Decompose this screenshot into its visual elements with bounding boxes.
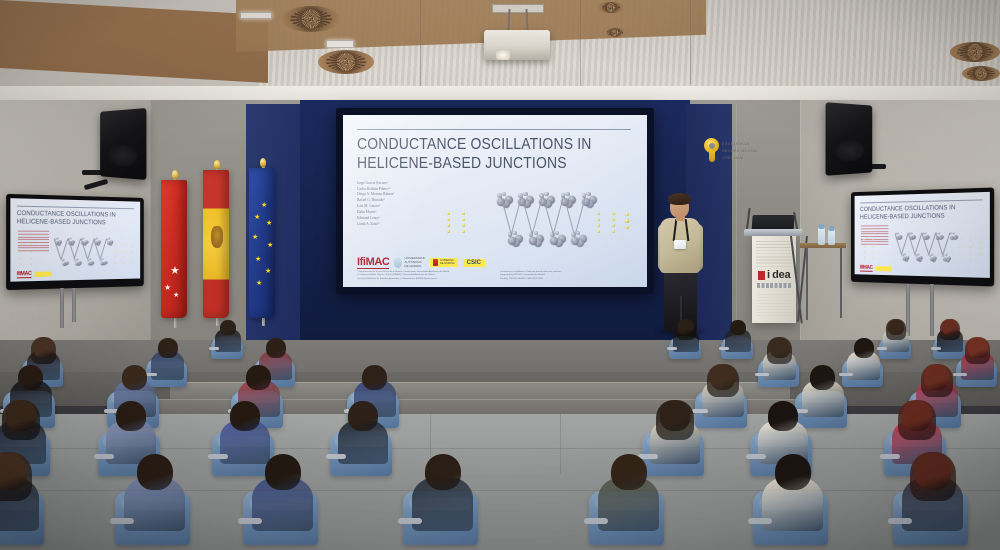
uam-mark-icon xyxy=(394,257,402,268)
audience-member-head xyxy=(710,365,735,390)
carbon-ring-atom xyxy=(56,238,58,240)
audience-member-head xyxy=(362,365,387,390)
slide-fineprint: ¹ Departamento de Física Teórica de la M… xyxy=(357,271,635,281)
audience-member-head xyxy=(770,338,790,358)
gold-atom xyxy=(131,258,132,259)
gold-electrode-atom-column xyxy=(968,238,971,261)
chair-armrest xyxy=(94,454,114,459)
lectern-banner-text-lines xyxy=(756,241,792,267)
gold-atom xyxy=(123,244,124,245)
pa-speaker-right xyxy=(826,102,873,176)
gold-electrode-atom-column xyxy=(978,240,981,256)
monitor-right-molecule xyxy=(860,223,985,267)
carbon-ring-atom xyxy=(544,192,549,197)
slide-logo-row: IfiMAC UNIVERSIDAD AUTÓNOMA DE MADRID GO… xyxy=(357,257,635,270)
audience-member-head xyxy=(158,338,178,358)
audience-member-head xyxy=(942,320,958,336)
carbon-ring-atom xyxy=(897,232,899,234)
gold-atom xyxy=(612,212,615,215)
chair-armrest xyxy=(238,518,262,524)
audience-member-head xyxy=(6,401,36,431)
gold-electrode-atom-column xyxy=(462,212,465,234)
ceiling-vent xyxy=(962,66,1000,81)
ceiling-panel-seam xyxy=(690,0,691,84)
flag-eu: ★ ★ ★ ★ ★ ★ ★ ★ xyxy=(249,168,275,318)
molecular-bond xyxy=(74,239,82,260)
gold-atom xyxy=(447,218,450,221)
flag-madrid: ★ ★ ★ xyxy=(161,180,187,318)
gold-atom xyxy=(131,252,132,253)
fineprint-affiliations: ¹ Departamento de Física Teórica de la M… xyxy=(357,271,492,281)
eu-star-icon: ★ xyxy=(267,242,273,249)
gold-atom xyxy=(612,230,615,233)
monitor-right-ifimac-logo: IfiMAC xyxy=(860,265,873,272)
carbon-ring-atom xyxy=(102,258,104,260)
gold-atom xyxy=(462,218,465,221)
monitor-left[interactable]: CONDUCTANCE OSCILLATIONS IN HELICENE-BAS… xyxy=(6,194,144,290)
carbon-ring-atom xyxy=(924,232,926,234)
gold-atom xyxy=(20,251,21,252)
fineprint-funding: Conductance oscillations in helicene-bas… xyxy=(500,271,635,281)
chair-armrest xyxy=(839,373,852,376)
monitor-left-screen: CONDUCTANCE OSCILLATIONS IN HELICENE-BAS… xyxy=(10,198,140,282)
carbon-ring-atom xyxy=(550,237,558,245)
gold-atom xyxy=(114,256,115,257)
audience-member-head xyxy=(768,401,798,431)
carbon-ring-atom xyxy=(512,231,517,236)
carbon-ring-atom xyxy=(83,238,85,240)
chair-armrest xyxy=(755,373,768,376)
carbon-ring-atom xyxy=(902,257,905,261)
lectern-banner-footer-lines xyxy=(757,294,791,316)
seal-ribbon-icon xyxy=(709,151,715,162)
gold-atom xyxy=(863,245,864,246)
lectern-top xyxy=(744,229,803,236)
chair-armrest xyxy=(667,347,677,350)
carbon-ring-atom xyxy=(945,254,947,256)
carbon-ring-atom xyxy=(96,238,98,240)
chair-armrest xyxy=(877,347,887,350)
carbon-ring-atom xyxy=(89,258,91,260)
carbon-ring-atom xyxy=(508,237,516,245)
lectern-banner: i dea xyxy=(752,236,796,323)
carbon-ring-atom xyxy=(565,192,570,197)
slide-title: CONDUCTANCE OSCILLATIONS IN HELICENE-BAS… xyxy=(357,136,607,174)
side-table-leg xyxy=(840,248,842,318)
monitor-left-neck xyxy=(60,288,64,328)
audience-member-head xyxy=(810,365,835,390)
madrid-star-icon: ★ xyxy=(164,284,171,292)
gold-atom xyxy=(597,230,600,233)
gold-atom xyxy=(30,244,31,245)
ceiling-projector xyxy=(484,30,550,60)
monitor-right-funder-logo xyxy=(875,266,891,271)
projector-mount xyxy=(507,9,528,33)
gold-atom xyxy=(30,263,31,264)
wall-seal-text: EXCELENCIA SEVERO OCHOA CSIC-UAM xyxy=(722,140,776,161)
gobierno-logo-text: GOBIERNO DE ESPAÑA xyxy=(440,260,455,266)
ceiling-vent xyxy=(282,6,340,32)
gold-electrode-atom-column xyxy=(122,243,125,264)
gold-atom xyxy=(979,248,981,250)
projector-lens xyxy=(496,50,510,60)
monitor-right-neck xyxy=(930,284,934,336)
slide-divider xyxy=(357,129,631,130)
gold-atom xyxy=(959,246,960,247)
gold-atom xyxy=(969,259,971,261)
gold-atom xyxy=(20,257,21,258)
ceiling-wood-panel-left xyxy=(0,0,268,83)
monitor-left-neck xyxy=(72,288,76,322)
eu-star-icon: ★ xyxy=(254,214,260,221)
eu-star-icon: ★ xyxy=(255,256,261,263)
gold-atom xyxy=(625,213,628,216)
ceiling-panel-seam xyxy=(420,0,421,88)
pa-speaker-left xyxy=(100,108,146,180)
wall-seam xyxy=(150,100,151,350)
gold-atom xyxy=(462,224,465,227)
gold-electrode-atom-column xyxy=(958,238,961,260)
chair-armrest xyxy=(398,518,422,524)
audience-member-head xyxy=(116,401,146,431)
carbon-ring-atom xyxy=(938,232,940,234)
gold-electrode-atom-column xyxy=(130,245,133,260)
gold-atom xyxy=(979,241,981,243)
imdea-square-icon xyxy=(758,271,765,280)
monitor-right-screen: CONDUCTANCE OSCILLATIONS IN HELICENE-BAS… xyxy=(855,192,990,278)
chair-armrest xyxy=(719,347,729,350)
speaker-hair xyxy=(668,193,691,205)
gold-atom xyxy=(597,224,600,227)
water-bottle[interactable] xyxy=(828,230,835,245)
chair-armrest xyxy=(953,373,966,376)
gold-atom xyxy=(959,258,960,259)
gold-atom xyxy=(863,251,864,252)
gold-atom xyxy=(114,262,115,263)
gold-atom xyxy=(597,218,600,221)
gold-atom xyxy=(462,212,465,215)
carbon-ring-atom xyxy=(534,231,539,236)
eu-star-icon: ★ xyxy=(252,234,258,241)
gold-atom xyxy=(969,252,971,254)
audience-member-head xyxy=(854,338,874,358)
carbon-ring-atom xyxy=(63,259,65,261)
gold-atom xyxy=(123,250,124,251)
water-bottle[interactable] xyxy=(818,228,825,245)
audience-member-head xyxy=(266,338,286,358)
gold-atom xyxy=(969,239,971,240)
speaker-badge xyxy=(674,240,686,249)
ceiling-vent xyxy=(950,42,1000,62)
side-table-leg xyxy=(806,248,808,320)
eu-star-icon: ★ xyxy=(266,220,272,227)
monitor-left-ifimac-logo: IfiMAC xyxy=(17,271,32,279)
gold-atom xyxy=(597,212,600,215)
carbon-ring-atom xyxy=(70,238,72,240)
audience-member-head xyxy=(968,338,988,358)
ifimac-logo: IfiMAC xyxy=(357,257,389,270)
audience-member-head xyxy=(915,454,952,491)
gold-atom xyxy=(123,262,124,263)
gold-atom xyxy=(30,251,31,252)
gold-atom xyxy=(114,250,115,251)
madrid-star-icon: ★ xyxy=(170,266,180,277)
audience-member-head xyxy=(34,338,54,358)
chair-armrest xyxy=(692,409,709,413)
slide: CONDUCTANCE OSCILLATIONS IN HELICENE-BAS… xyxy=(343,115,647,287)
monitor-left-funder-logo xyxy=(35,272,52,277)
eu-star-icon: ★ xyxy=(256,280,262,287)
audience-member-head xyxy=(122,365,147,390)
gold-atom xyxy=(447,224,450,227)
carbon-ring-atom xyxy=(75,262,78,265)
audience-member-head xyxy=(425,454,462,491)
monitor-right-title: CONDUCTANCE OSCILLATIONS IN HELICENE-BAS… xyxy=(860,203,974,222)
carbon-ring-atom xyxy=(76,258,78,260)
monitor-right-neck xyxy=(906,284,910,336)
flag-finial-icon xyxy=(172,170,178,179)
gold-atom xyxy=(20,244,21,245)
gold-atom xyxy=(612,218,615,221)
floor-tile-line xyxy=(560,414,561,474)
chair-armrest xyxy=(209,347,219,350)
monitor-left-molecule xyxy=(17,229,136,270)
audience-member-head xyxy=(902,401,932,431)
gold-atom xyxy=(447,212,450,215)
imdea-subtitle-bar xyxy=(757,283,791,288)
audience-member-head xyxy=(137,454,174,491)
gold-electrode-atom-column xyxy=(447,212,450,234)
carbon-ring-atom xyxy=(571,237,579,245)
main-projection-screen[interactable]: CONDUCTANCE OSCILLATIONS IN HELICENE-BAS… xyxy=(336,108,654,294)
carbon-ring-atom xyxy=(555,231,560,236)
audience-member-head xyxy=(246,365,271,390)
gold-atom xyxy=(114,244,115,245)
audience-member-head xyxy=(888,320,904,336)
chair-armrest xyxy=(208,454,228,459)
imdea-logo-dea: dea xyxy=(772,270,790,281)
audience-member-head xyxy=(924,365,949,390)
gold-electrode-atom-column xyxy=(862,238,865,259)
ceiling-vent xyxy=(318,50,374,74)
audience-member-head xyxy=(611,454,648,491)
gold-atom xyxy=(872,239,873,240)
chair-armrest xyxy=(880,454,900,459)
flag-finial-icon xyxy=(214,160,220,169)
gold-atom xyxy=(872,245,873,246)
flag-finial-icon xyxy=(260,158,266,167)
monitor-right-logo-row: IfiMAC xyxy=(860,265,985,275)
gold-atom xyxy=(625,219,628,222)
gold-atom xyxy=(872,251,873,252)
gold-atom xyxy=(447,230,450,233)
gold-electrode-atom-column xyxy=(625,213,628,229)
carbon-ring-atom xyxy=(930,258,934,262)
audience-member-head xyxy=(230,401,260,431)
author-list: Jorge Garcia-Encaro¹ Carlos Roldán-Piñer… xyxy=(357,179,443,255)
imdea-logo: i dea xyxy=(758,270,790,281)
monitor-left-logo-row: IfiMAC xyxy=(17,269,136,278)
gold-atom xyxy=(959,239,960,240)
eu-star-icon: ★ xyxy=(265,268,271,275)
carbon-ring-atom xyxy=(523,192,528,197)
chair-armrest xyxy=(110,518,134,524)
carbon-ring-atom xyxy=(529,237,537,245)
bottle-cap xyxy=(829,226,834,231)
helicene-molecule-diagram xyxy=(443,179,635,255)
audience-member-head xyxy=(660,401,690,431)
carbon-ring-atom xyxy=(502,192,507,197)
monitor-left-divider xyxy=(17,206,134,209)
auditorium-scene: EXCELENCIA SEVERO OCHOA CSIC-UAM CONDUCT… xyxy=(0,0,1000,550)
severo-ochoa-seal-icon xyxy=(703,138,720,163)
bottle-cap xyxy=(819,224,824,229)
gold-atom xyxy=(123,256,124,257)
gold-atom xyxy=(625,226,628,229)
gold-electrode-atom-column xyxy=(597,212,600,234)
gold-electrode-atom-column xyxy=(612,212,615,234)
gold-atom xyxy=(863,257,864,258)
gold-electrode-atom-column xyxy=(19,243,22,266)
audience-member-head xyxy=(220,320,236,336)
eu-star-icon: ★ xyxy=(261,202,267,209)
audience-member-head xyxy=(265,454,302,491)
gobierno-logo: GOBIERNO DE ESPAÑA xyxy=(430,258,458,267)
madrid-star-icon: ★ xyxy=(173,292,179,299)
gold-atom xyxy=(863,239,864,240)
uam-logo-text: UNIVERSIDAD AUTÓNOMA DE MADRID xyxy=(404,257,425,268)
chair-armrest xyxy=(746,454,766,459)
author-name: Linda A. Zotti¹² xyxy=(357,222,443,228)
gold-atom xyxy=(969,246,971,247)
audience-member-head xyxy=(775,454,812,491)
gold-atom xyxy=(872,257,873,258)
imdea-logo-i: i xyxy=(767,270,770,281)
audience-member-head xyxy=(678,320,694,336)
chair-armrest xyxy=(748,518,772,524)
gold-atom xyxy=(30,257,31,258)
molecular-bond xyxy=(574,196,586,236)
gold-atom xyxy=(959,252,960,253)
gold-electrode-atom-column xyxy=(29,243,32,265)
ceiling-light xyxy=(326,40,354,48)
gold-atom xyxy=(131,246,132,247)
carbon-ring-atom xyxy=(586,192,591,197)
audience-member-head xyxy=(730,320,746,336)
slide-body: Jorge Garcia-Encaro¹ Carlos Roldán-Piñer… xyxy=(357,179,635,255)
gold-electrode-atom-column xyxy=(113,243,116,264)
gold-atom xyxy=(612,224,615,227)
carbon-ring-atom xyxy=(108,238,110,240)
csic-logo: CSIC xyxy=(463,259,485,267)
gold-atom xyxy=(979,254,981,256)
ceiling-panel-seam xyxy=(580,0,581,86)
monitor-right[interactable]: CONDUCTANCE OSCILLATIONS IN HELICENE-BAS… xyxy=(851,187,994,286)
uam-logo: UNIVERSIDAD AUTÓNOMA DE MADRID xyxy=(394,257,425,268)
chair-armrest xyxy=(931,347,941,350)
spain-coat-of-arms-icon xyxy=(211,226,223,248)
ceiling-light xyxy=(240,12,272,19)
chair-armrest xyxy=(888,518,912,524)
gold-atom xyxy=(462,230,465,233)
carbon-ring-atom xyxy=(62,262,65,265)
carbon-ring-atom xyxy=(952,232,954,234)
audience-member-head xyxy=(18,365,43,390)
gold-electrode-atom-column xyxy=(871,238,874,259)
flag-spain xyxy=(203,170,229,318)
carbon-ring-atom xyxy=(910,232,912,234)
chair-armrest xyxy=(584,518,608,524)
gold-atom xyxy=(20,264,21,265)
chair-armrest xyxy=(326,454,346,459)
monitor-left-title: CONDUCTANCE OSCILLATIONS IN HELICENE-BAS… xyxy=(17,209,127,227)
ceiling-vent xyxy=(598,2,624,13)
screen-surface: CONDUCTANCE OSCILLATIONS IN HELICENE-BAS… xyxy=(343,115,647,287)
carbon-ring-atom xyxy=(916,258,920,262)
ceiling-vent xyxy=(604,28,626,37)
monitor-right-divider xyxy=(860,199,982,203)
gobierno-crest-icon xyxy=(433,259,438,266)
audience-member-head xyxy=(348,401,378,431)
carbon-ring-atom xyxy=(88,262,91,265)
